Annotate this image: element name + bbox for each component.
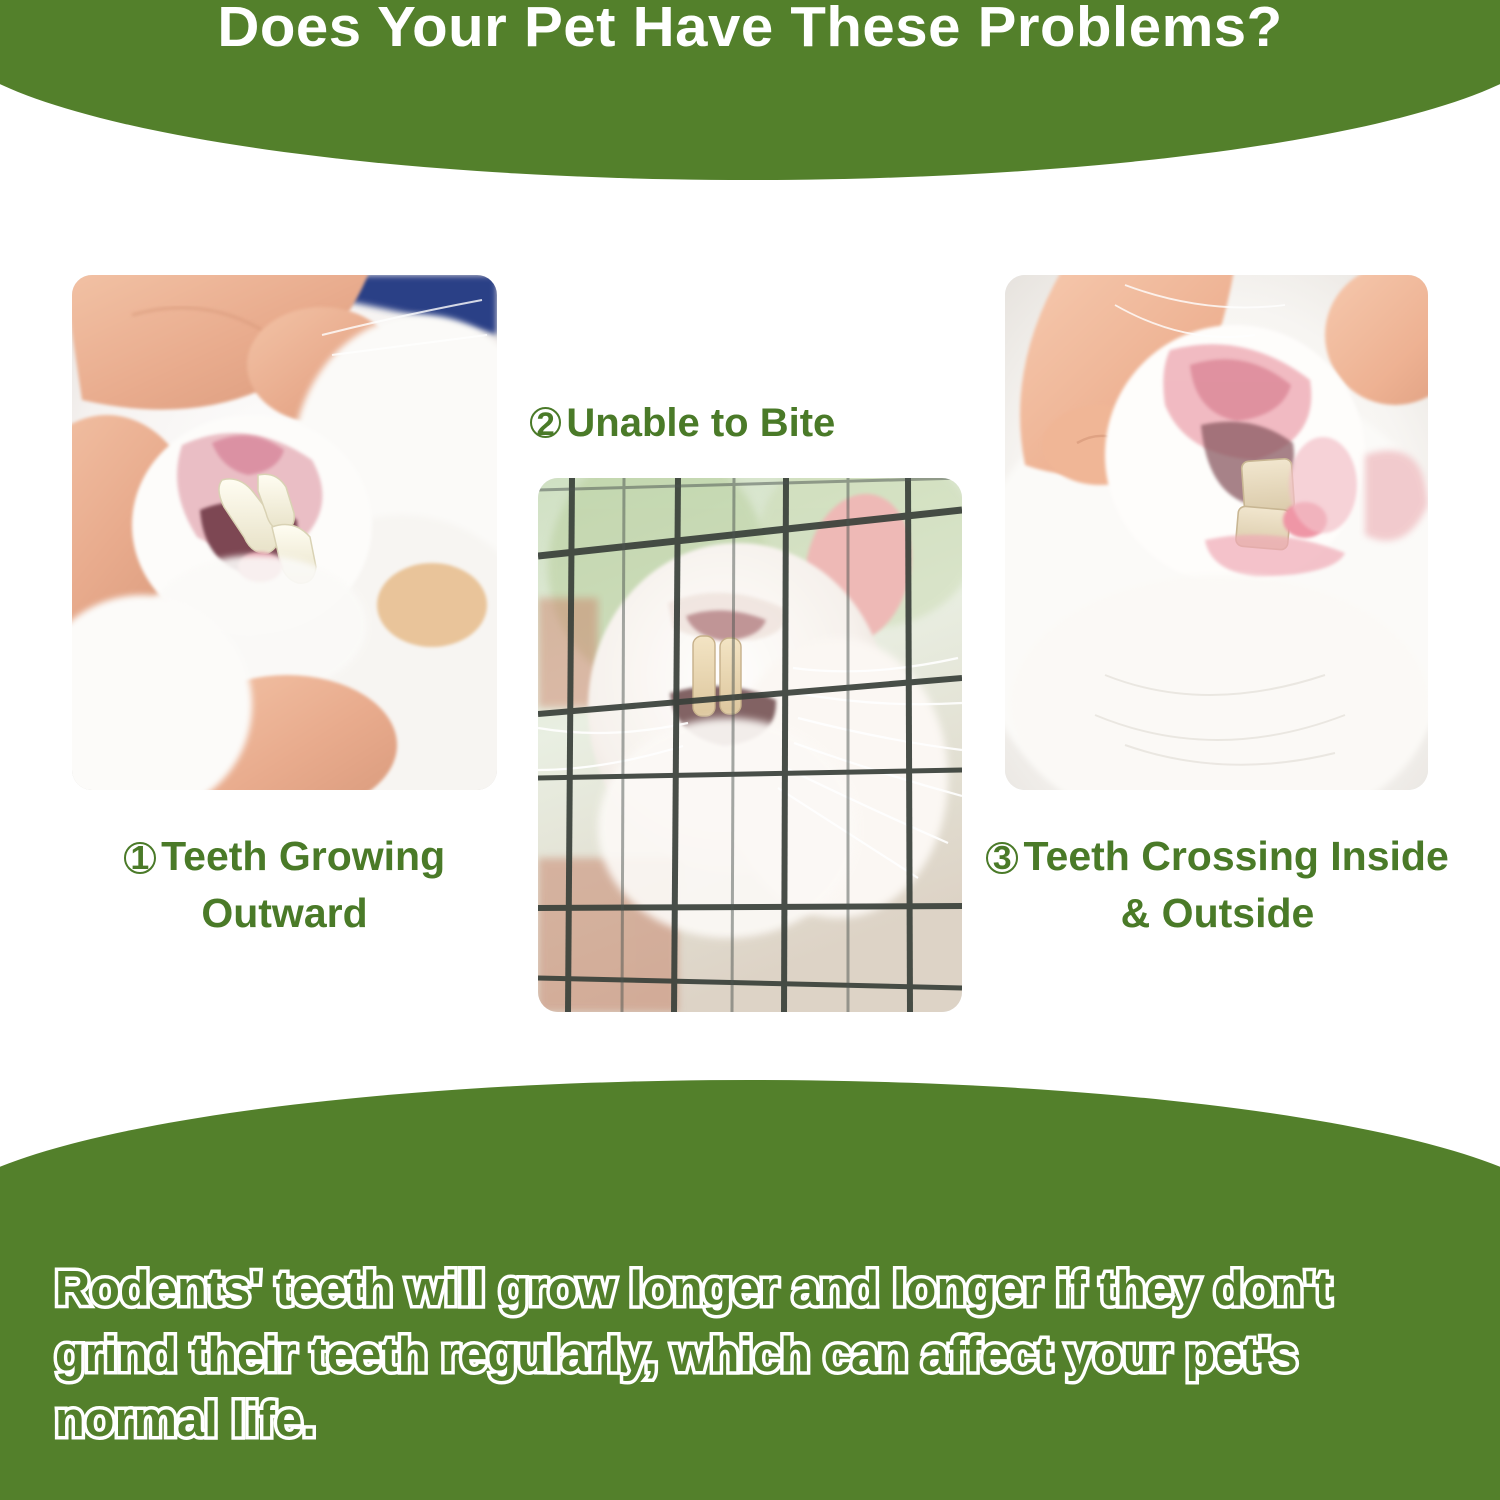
caption-text-3: Teeth Crossing Inside & Outside	[1024, 833, 1449, 936]
header-banner: Does Your Pet Have These Problems?	[0, 0, 1500, 180]
caption-problem-1: 1Teeth Growing Outward	[52, 828, 517, 941]
page-title: Does Your Pet Have These Problems?	[0, 0, 1500, 60]
problem-photo-2	[538, 478, 962, 1012]
caption-text-2: Unable to Bite	[566, 401, 835, 445]
circled-number-1-icon: 1	[124, 842, 156, 874]
poster-root: Does Your Pet Have These Problems?	[0, 0, 1500, 1500]
caption-problem-3: 3Teeth Crossing Inside & Outside	[985, 828, 1450, 941]
footer-message: Rodents' teeth will grow longer and long…	[55, 1257, 1433, 1454]
rabbit-in-cage-illustration	[538, 478, 962, 1012]
footer-banner: Rodents' teeth will grow longer and long…	[0, 1080, 1500, 1500]
rabbit-teeth-outward-illustration	[72, 275, 497, 790]
circled-number-3-icon: 3	[986, 842, 1018, 874]
problem-photo-1	[72, 275, 497, 790]
rabbit-teeth-crossing-illustration	[1005, 275, 1428, 790]
caption-text-1: Teeth Growing Outward	[161, 833, 445, 936]
circled-number-2-icon: 2	[530, 407, 561, 438]
caption-problem-2: 2Unable to Bite	[530, 396, 970, 451]
problem-photo-3	[1005, 275, 1428, 790]
